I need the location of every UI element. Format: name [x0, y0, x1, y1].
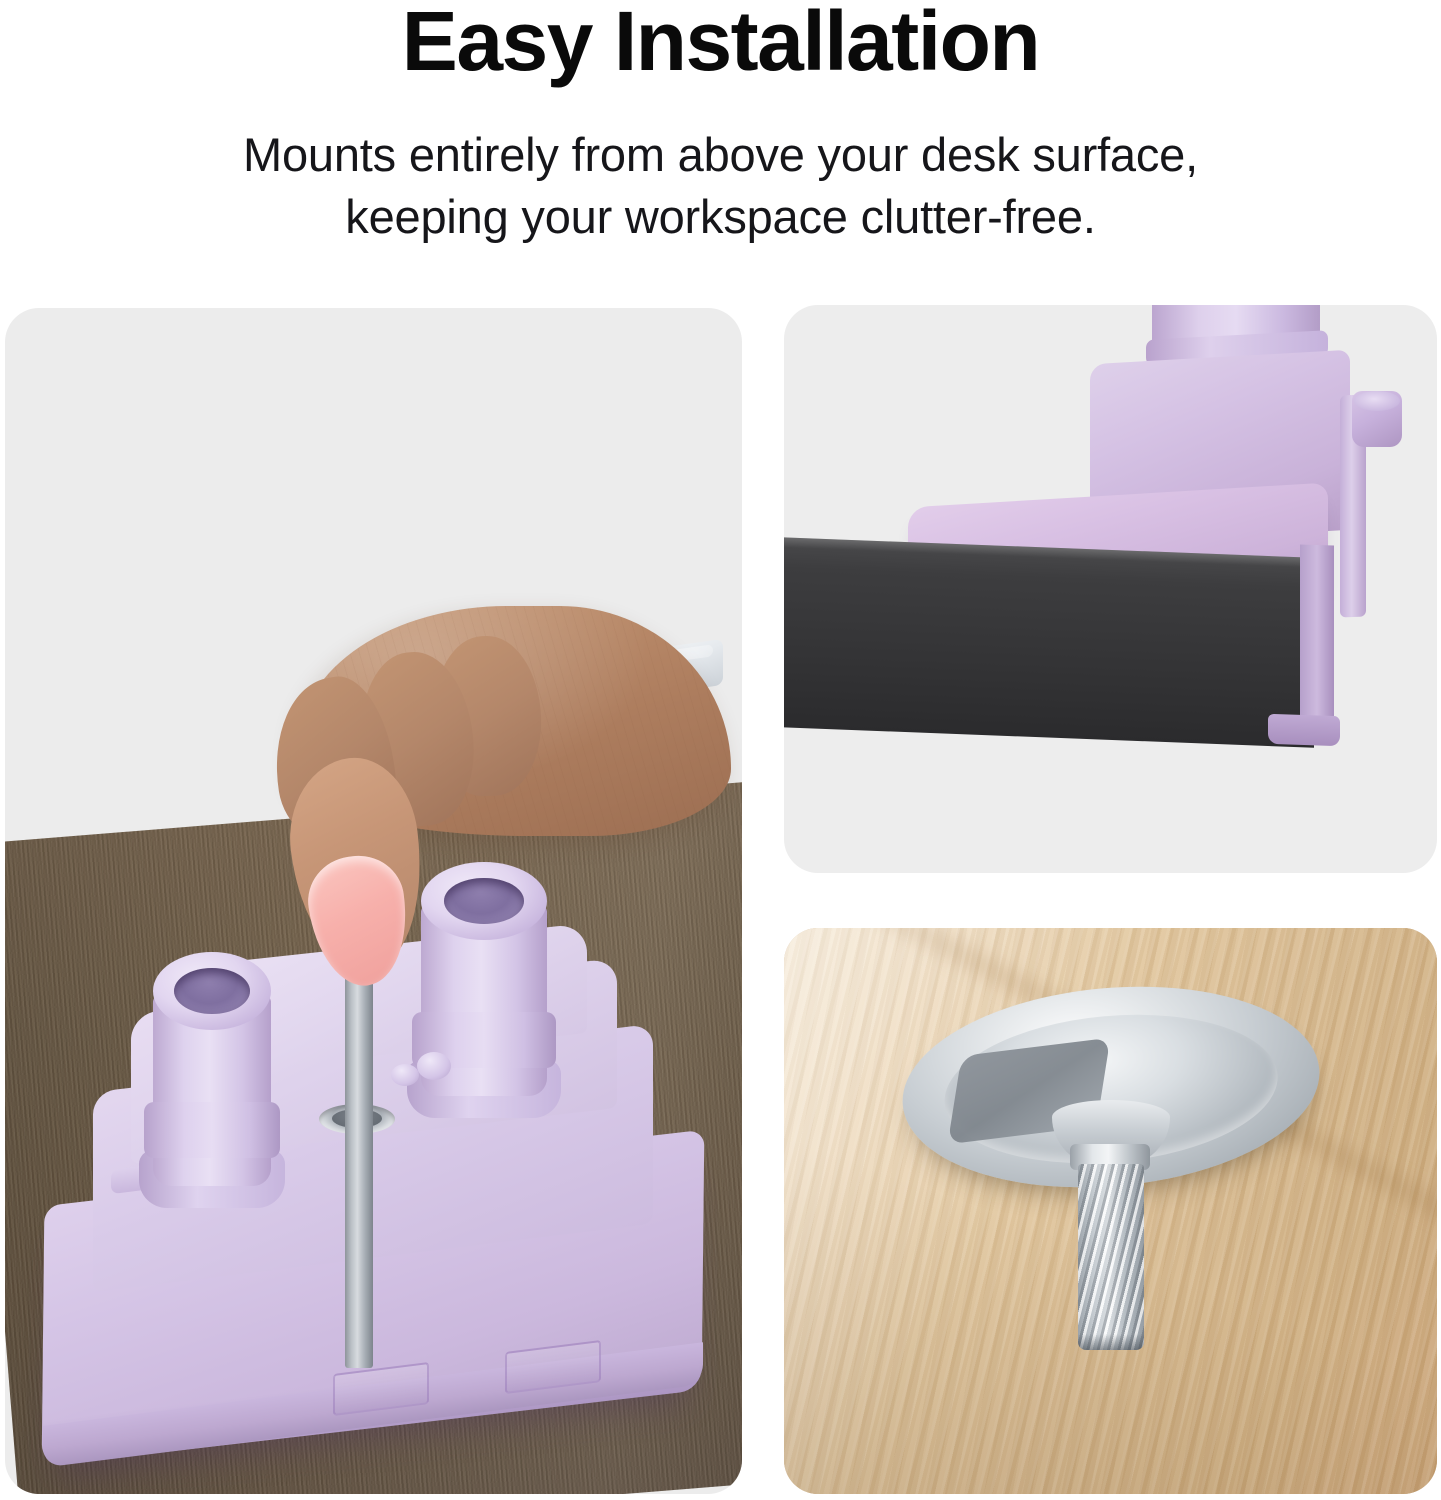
panel-grommet: Grommet Desk thickness 0.39" ~ 1.6" [784, 928, 1437, 1494]
post-bore [174, 968, 250, 1014]
infographic-root: Easy Installation Mounts entirely from a… [0, 0, 1441, 1500]
base-bump [391, 1064, 419, 1086]
hand [263, 608, 733, 938]
page-title: Easy Installation [0, 0, 1441, 87]
panel-top-mounted: Top-Mounted [5, 308, 742, 1494]
clamp-adjust-knob [1352, 391, 1402, 447]
clamp-scene [784, 305, 1437, 873]
base-bump [417, 1052, 451, 1080]
top-mounted-scene: Top-Mounted [5, 308, 742, 1494]
mount-post-left [153, 952, 271, 1202]
allen-key [325, 1118, 395, 1128]
clamp-lower-jaw [1268, 714, 1340, 747]
page-subtitle: Mounts entirely from above your desk sur… [0, 124, 1441, 247]
subtitle-line-1: Mounts entirely from above your desk sur… [243, 128, 1198, 181]
subtitle-line-2: keeping your workspace clutter-free. [0, 186, 1441, 248]
panel-clamp: Clamp Desk thickness 0.39" ~ 1.8" [784, 305, 1437, 873]
header: Easy Installation Mounts entirely from a… [0, 0, 1441, 292]
clamp-vertical-arm [1300, 545, 1334, 742]
grommet-scene [784, 928, 1437, 1494]
grommet-threaded-bolt [1078, 1164, 1144, 1350]
post-collar [144, 1102, 280, 1158]
black-desk-edge [784, 536, 1314, 748]
